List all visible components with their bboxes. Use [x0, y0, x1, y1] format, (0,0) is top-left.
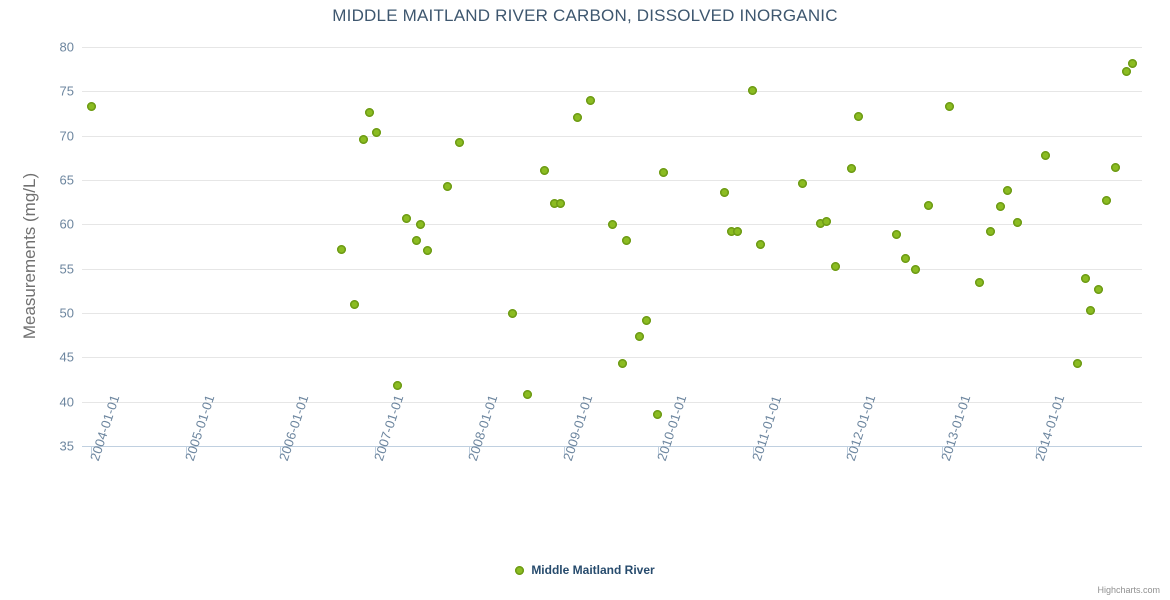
- y-axis-tick-label: 75: [60, 84, 74, 99]
- data-point[interactable]: [901, 254, 910, 263]
- y-axis-title: Measurements (mg/L): [20, 96, 40, 416]
- data-point[interactable]: [986, 227, 995, 236]
- y-gridline: [82, 136, 1142, 137]
- y-gridline: [82, 269, 1142, 270]
- data-point[interactable]: [847, 164, 856, 173]
- y-axis: Measurements (mg/L) 35404550556065707580: [0, 0, 74, 600]
- legend-item-label[interactable]: Middle Maitland River: [531, 563, 654, 577]
- data-point[interactable]: [975, 278, 984, 287]
- legend-marker-icon: [515, 566, 524, 575]
- data-point[interactable]: [854, 112, 863, 121]
- data-point[interactable]: [365, 108, 374, 117]
- data-point[interactable]: [1003, 186, 1012, 195]
- data-point[interactable]: [659, 168, 668, 177]
- data-point[interactable]: [1094, 285, 1103, 294]
- data-point[interactable]: [748, 86, 757, 95]
- data-point[interactable]: [350, 300, 359, 309]
- data-point[interactable]: [423, 246, 432, 255]
- plot-area: [82, 47, 1142, 446]
- data-point[interactable]: [443, 182, 452, 191]
- data-point[interactable]: [720, 188, 729, 197]
- y-axis-tick-label: 65: [60, 173, 74, 188]
- y-axis-tick-label: 35: [60, 439, 74, 454]
- y-gridline: [82, 180, 1142, 181]
- y-axis-tick-label: 45: [60, 350, 74, 365]
- data-point[interactable]: [924, 201, 933, 210]
- data-point[interactable]: [1013, 218, 1022, 227]
- data-point[interactable]: [508, 309, 517, 318]
- data-point[interactable]: [540, 166, 549, 175]
- y-axis-tick-label: 60: [60, 217, 74, 232]
- data-point[interactable]: [1111, 163, 1120, 172]
- y-gridline: [82, 402, 1142, 403]
- data-point[interactable]: [523, 390, 532, 399]
- y-gridline: [82, 357, 1142, 358]
- data-point[interactable]: [393, 381, 402, 390]
- y-axis-tick-label: 40: [60, 394, 74, 409]
- data-point[interactable]: [635, 332, 644, 341]
- data-point[interactable]: [1122, 67, 1131, 76]
- data-point[interactable]: [892, 230, 901, 239]
- data-point[interactable]: [798, 179, 807, 188]
- y-axis-tick-label: 50: [60, 306, 74, 321]
- data-point[interactable]: [996, 202, 1005, 211]
- data-point[interactable]: [455, 138, 464, 147]
- data-point[interactable]: [416, 220, 425, 229]
- data-point[interactable]: [556, 199, 565, 208]
- data-point[interactable]: [402, 214, 411, 223]
- data-point[interactable]: [1128, 59, 1137, 68]
- y-gridline: [82, 313, 1142, 314]
- data-point[interactable]: [642, 316, 651, 325]
- data-point[interactable]: [622, 236, 631, 245]
- y-axis-tick-label: 70: [60, 128, 74, 143]
- y-axis-tick-label: 80: [60, 40, 74, 55]
- chart-container: MIDDLE MAITLAND RIVER CARBON, DISSOLVED …: [0, 0, 1170, 600]
- data-point[interactable]: [372, 128, 381, 137]
- data-point[interactable]: [911, 265, 920, 274]
- chart-legend: Middle Maitland River: [0, 563, 1170, 577]
- data-point[interactable]: [945, 102, 954, 111]
- data-point[interactable]: [1041, 151, 1050, 160]
- y-axis-tick-label: 55: [60, 261, 74, 276]
- data-point[interactable]: [756, 240, 765, 249]
- data-point[interactable]: [608, 220, 617, 229]
- data-point[interactable]: [831, 262, 840, 271]
- data-point[interactable]: [1102, 196, 1111, 205]
- data-point[interactable]: [573, 113, 582, 122]
- chart-credits[interactable]: Highcharts.com: [1097, 585, 1160, 595]
- chart-title: MIDDLE MAITLAND RIVER CARBON, DISSOLVED …: [0, 6, 1170, 26]
- data-point[interactable]: [87, 102, 96, 111]
- data-point[interactable]: [733, 227, 742, 236]
- data-point[interactable]: [337, 245, 346, 254]
- data-point[interactable]: [653, 410, 662, 419]
- data-point[interactable]: [359, 135, 368, 144]
- data-point[interactable]: [412, 236, 421, 245]
- data-point[interactable]: [1081, 274, 1090, 283]
- data-point[interactable]: [1073, 359, 1082, 368]
- data-point[interactable]: [586, 96, 595, 105]
- y-gridline: [82, 47, 1142, 48]
- x-axis-line: [82, 446, 1142, 447]
- y-gridline: [82, 91, 1142, 92]
- data-point[interactable]: [618, 359, 627, 368]
